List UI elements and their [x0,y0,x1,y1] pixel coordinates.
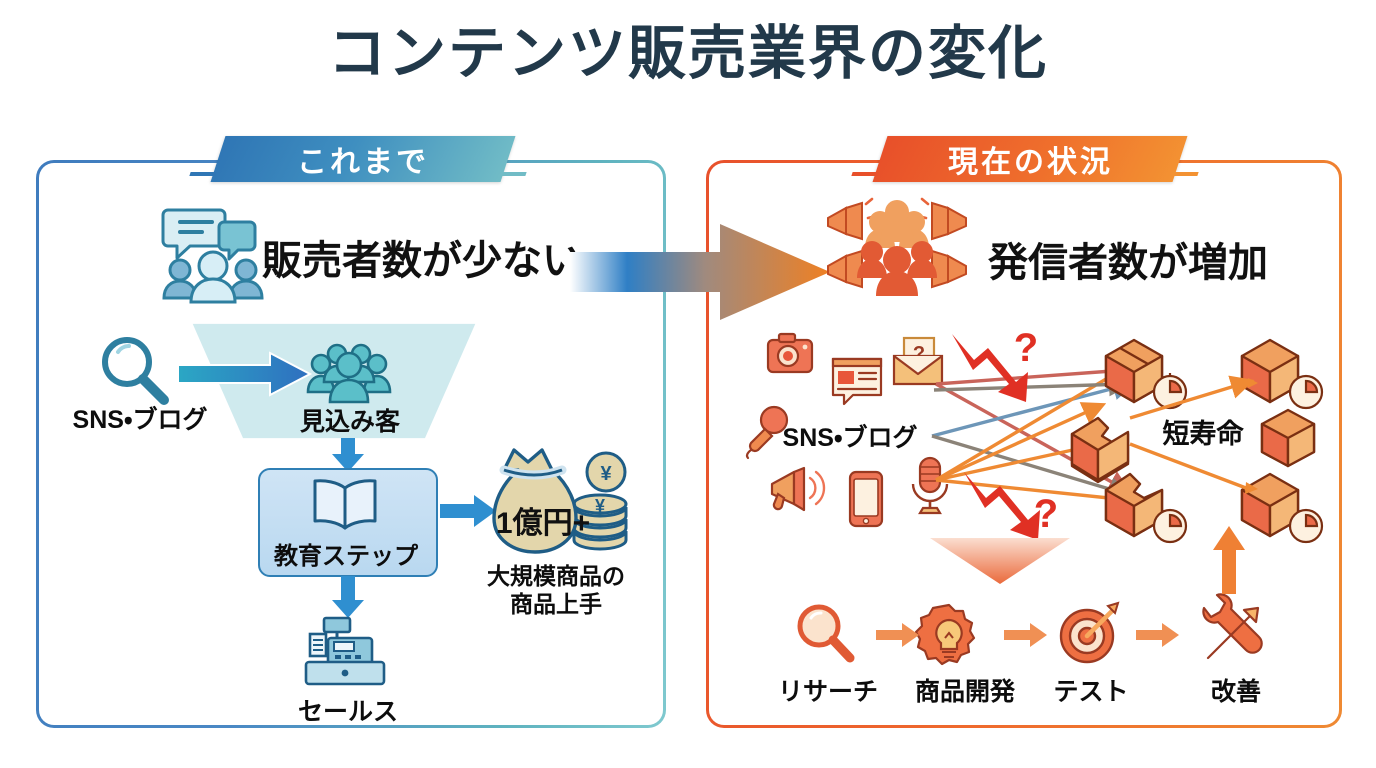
right-source-label: SNS・ブログ [760,418,940,454]
cycle-step-label-0: リサーチ [766,672,890,708]
right-banner: 現在の状況 [873,136,1188,182]
down-transition-arrow [930,536,1070,586]
money-amount-label: 1億円+ [484,498,602,542]
left-headline: 販売者数が少ない [262,228,582,286]
left-banner-tick-start [189,172,216,176]
cycle-step-label-1: 商品開発 [890,672,1040,708]
left-banner-label: これまで [297,137,429,181]
wrench-screwdriver-arrow-icon [1198,596,1270,668]
education-step-label: 教育ステップ [258,536,434,571]
funnel-label: 見込み客 [268,402,432,438]
camera-icon [766,332,814,376]
right-banner-label: 現在の状況 [948,137,1113,181]
cycle-feedback-arrow [1212,524,1246,594]
crowd-megaphones-icon [822,196,972,306]
question-mark-bottom: ? [1026,492,1066,537]
left-banner-tick-end [499,172,526,176]
target-dart-icon [1056,602,1122,668]
step-to-sales-arrow [330,576,366,618]
blog-article-icon [830,356,884,406]
cycle-arrow-1 [1004,622,1048,648]
speech-bubbles-people-icon [158,198,268,308]
cycle-arrow-2 [1136,622,1180,648]
funnel-to-step-arrow [330,438,366,472]
people-group-icon [306,340,392,408]
smartphone-icon [848,470,884,528]
cycle-arrow-0 [876,622,920,648]
money-caption-line2: 商品上手 [466,590,646,619]
money-caption-line1: 大規模商品の [466,562,646,591]
right-headline: 発信者数が増加 [988,230,1268,288]
cycle-step-label-2: テスト [1032,672,1150,708]
infographic-canvas: コンテンツ販売業界の変化 販売者数が少ない SNS・ブログ [0,0,1376,768]
gear-lightbulb-icon [916,604,982,670]
parcel-box-icon [1258,404,1326,472]
svg-text:¥: ¥ [600,463,612,485]
cash-register-icon [298,616,394,690]
right-banner-tick-start [851,172,878,176]
magnifier-icon [94,330,174,410]
transition-arrow [570,222,830,322]
right-banner-tick-end [1171,172,1198,176]
open-book-icon [308,478,382,532]
funnel-inflow-arrow [178,352,314,396]
magnifier-icon [792,600,858,666]
megaphone-icon [768,466,828,512]
page-title: コンテンツ販売業界の変化 [0,22,1376,86]
question-mark-top: ? [1006,326,1046,371]
sales-label: セールス [274,692,422,728]
cycle-step-label-3: 改善 [1186,672,1286,708]
left-banner: これまで [211,136,516,182]
short-lifespan-label: 短寿命 [1148,412,1258,451]
